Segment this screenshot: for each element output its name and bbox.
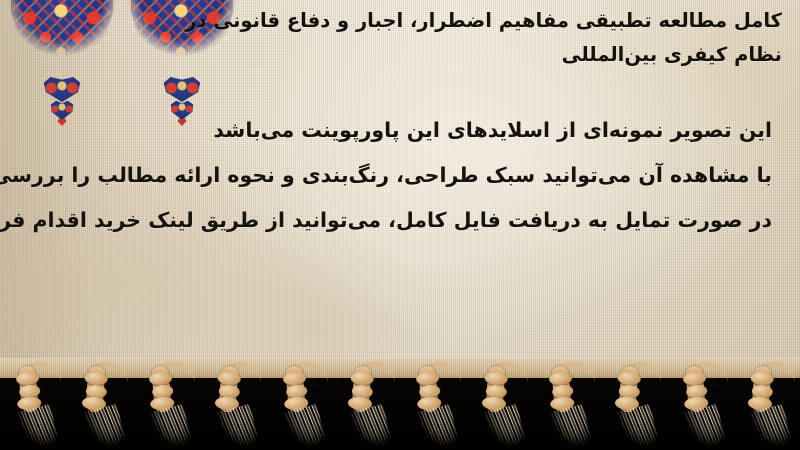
fringe-tassel: [6, 366, 52, 450]
fringe-knot: [752, 365, 772, 412]
fringe-tassel: [73, 366, 119, 450]
slide-canvas: کامل مطالعه تطبیقی مفاهیم اضطرار، اجبار …: [0, 0, 800, 450]
slide-body-text: این تصویر نمونه‌ای از اسلایدهای این پاور…: [27, 108, 772, 243]
fringe-brush: [609, 404, 660, 450]
fringe-tassel: [339, 366, 385, 450]
fringe-brush: [742, 404, 793, 450]
fringe-knot: [218, 365, 238, 412]
fringe-knot: [352, 365, 372, 412]
body-line-3: در صورت تمایل به دریافت فایل کامل، می‌تو…: [27, 198, 772, 243]
fringe-knot: [685, 365, 706, 412]
medallion-body-icon: [8, 0, 116, 78]
fringe-brush: [476, 404, 527, 450]
fringe-brush: [409, 404, 460, 450]
fringe-brush: [9, 404, 60, 450]
fringe-knot: [618, 365, 638, 412]
fringe-knot: [485, 365, 505, 412]
body-line-1: این تصویر نمونه‌ای از اسلایدهای این پاور…: [27, 108, 772, 153]
fringe-tassel: [139, 366, 185, 450]
fringe-tassel: [539, 366, 585, 450]
body-line-2: با مشاهده آن می‌توانید سبک طراحی، رنگ‌بن…: [27, 153, 772, 198]
fringe-tassel: [273, 366, 319, 450]
fringe-knot: [285, 365, 306, 412]
fringe-tassel: [473, 366, 519, 450]
fringe-brush: [542, 404, 593, 450]
fringe-tassel: [406, 366, 452, 450]
fringe-tassel: [606, 366, 652, 450]
fringe-knot: [418, 365, 439, 412]
fringe-knot: [85, 365, 105, 412]
carpet-fringe: [0, 366, 800, 450]
slide-title: کامل مطالعه تطبیقی مفاهیم اضطرار، اجبار …: [142, 4, 782, 72]
fringe-brush: [142, 404, 193, 450]
fringe-knot: [18, 365, 39, 412]
fringe-tassel: [673, 366, 719, 450]
fringe-tassel: [206, 366, 252, 450]
fringe-brush: [209, 404, 260, 450]
persian-medallion-left-ornament: [8, 0, 116, 78]
fringe-tassel: [739, 366, 785, 450]
fringe-brush: [676, 404, 727, 450]
fringe-brush: [342, 404, 393, 450]
fringe-brush: [276, 404, 327, 450]
fringe-brush: [76, 404, 127, 450]
